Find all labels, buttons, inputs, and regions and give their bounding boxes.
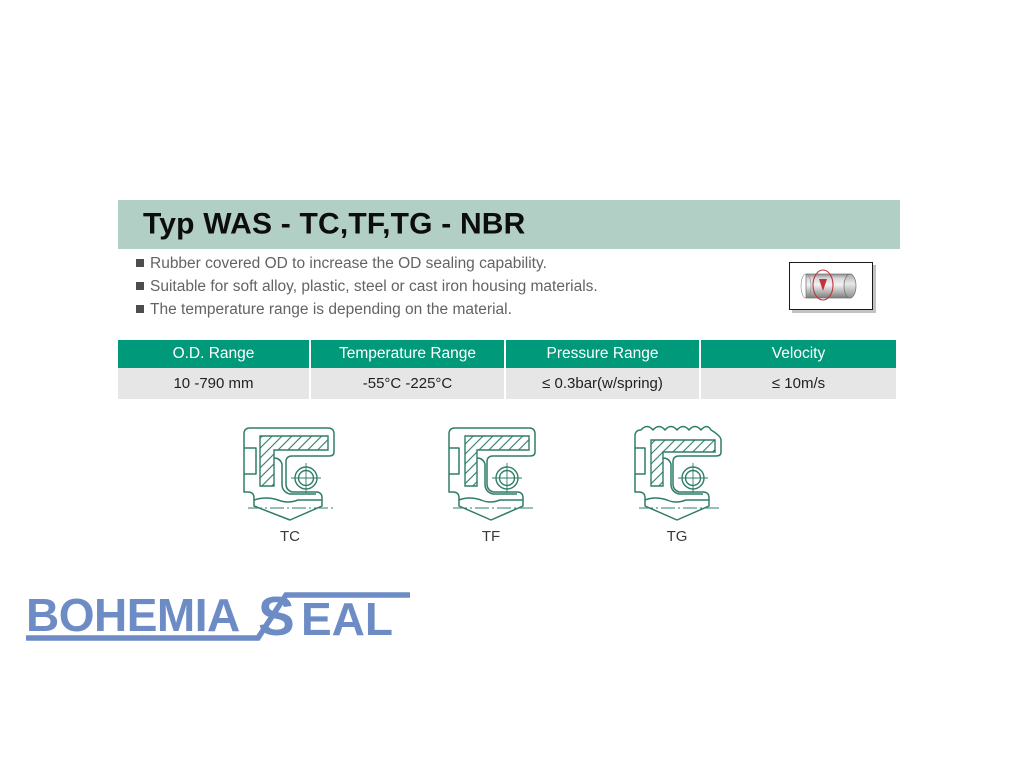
feature-list: Rubber covered OD to increase the OD sea… (136, 256, 756, 325)
list-item: Suitable for soft alloy, plastic, steel … (136, 279, 756, 302)
logo-word-eal: EAL (301, 593, 393, 645)
seal-label-tf: TF (421, 528, 561, 545)
column-header-velocity: Velocity (700, 340, 896, 368)
feature-text: The temperature range is depending on th… (150, 302, 512, 318)
bohemia-seal-logo: BOHEMIA S EAL (18, 583, 418, 645)
seal-diagram-tg: TG (607, 418, 747, 545)
seal-diagram-tf: TF (421, 418, 561, 545)
square-bullet-icon (136, 259, 144, 267)
cell-temperature-range: -55°C -225°C (310, 368, 505, 399)
column-header-pressure-range: Pressure Range (505, 340, 700, 368)
square-bullet-icon (136, 282, 144, 290)
cell-od-range: 10 -790 mm (118, 368, 310, 399)
list-item: Rubber covered OD to increase the OD sea… (136, 256, 756, 279)
logo-word-bohemia: BOHEMIA (26, 589, 240, 641)
page-title: Typ WAS - TC,TF,TG - NBR (143, 207, 526, 241)
column-header-temperature-range: Temperature Range (310, 340, 505, 368)
feature-text: Suitable for soft alloy, plastic, steel … (150, 279, 598, 295)
cell-velocity: ≤ 10m/s (700, 368, 896, 399)
cell-pressure-range: ≤ 0.3bar(w/spring) (505, 368, 700, 399)
table-row: 10 -790 mm -55°C -225°C ≤ 0.3bar(w/sprin… (118, 368, 896, 399)
rotating-shaft-icon (789, 262, 873, 310)
seal-label-tc: TC (220, 528, 360, 545)
seal-label-tg: TG (607, 528, 747, 545)
table-header-row: O.D. Range Temperature Range Pressure Ra… (118, 340, 896, 368)
seal-diagram-tc: TC (220, 418, 360, 545)
seal-diagram-gallery: TC (118, 418, 878, 548)
title-banner: Typ WAS - TC,TF,TG - NBR (118, 200, 900, 249)
column-header-od-range: O.D. Range (118, 340, 310, 368)
specification-table: O.D. Range Temperature Range Pressure Ra… (118, 340, 896, 399)
list-item: The temperature range is depending on th… (136, 302, 756, 325)
logo-letter-s: S (258, 585, 295, 645)
feature-text: Rubber covered OD to increase the OD sea… (150, 256, 547, 272)
square-bullet-icon (136, 305, 144, 313)
